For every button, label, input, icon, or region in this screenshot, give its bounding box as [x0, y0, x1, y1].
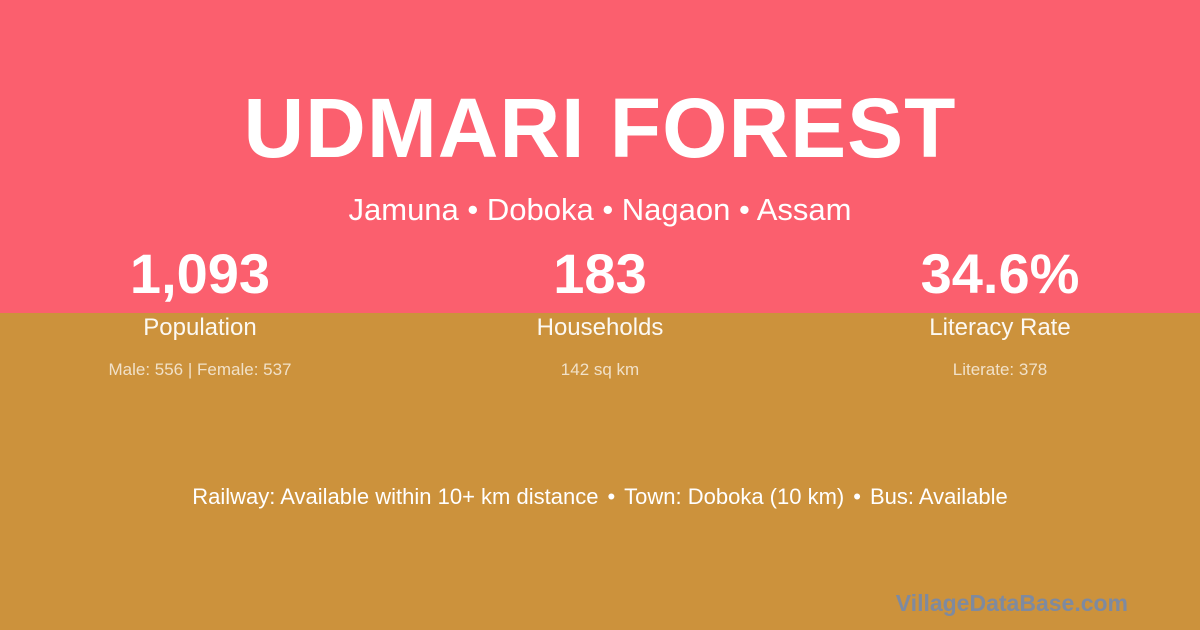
- stat-block-population: 1,093 Population Male: 556 | Female: 537: [0, 246, 400, 378]
- literacy-rate-value: 34.6%: [800, 246, 1200, 302]
- amenity-bus: Bus: Available: [870, 484, 1008, 509]
- population-breakdown: Male: 556 | Female: 537: [0, 340, 400, 378]
- area-value: 142 sq km: [400, 340, 800, 378]
- literacy-rate-label: Literacy Rate: [800, 302, 1200, 340]
- amenity-railway: Railway: Available within 10+ km distanc…: [192, 484, 598, 509]
- households-label: Households: [400, 302, 800, 340]
- amenity-separator-icon: •: [844, 484, 870, 509]
- brand-watermark: VillageDataBase.com: [896, 592, 1128, 615]
- population-label: Population: [0, 302, 400, 340]
- amenities-line: Railway: Available within 10+ km distanc…: [0, 486, 1200, 508]
- households-value: 183: [400, 246, 800, 302]
- stats-row: 1,093 Population Male: 556 | Female: 537…: [0, 246, 1200, 378]
- village-info-card: UDMARI FOREST Jamuna • Doboka • Nagaon •…: [0, 0, 1200, 630]
- location-breadcrumb: Jamuna • Doboka • Nagaon • Assam: [0, 170, 1200, 225]
- population-value: 1,093: [0, 246, 400, 302]
- literate-count: Literate: 378: [800, 340, 1200, 378]
- amenity-town: Town: Doboka (10 km): [624, 484, 844, 509]
- stat-block-literacy: 34.6% Literacy Rate Literate: 378: [800, 246, 1200, 378]
- page-title: UDMARI FOREST: [0, 0, 1200, 170]
- header: UDMARI FOREST Jamuna • Doboka • Nagaon •…: [0, 0, 1200, 225]
- stat-block-households: 183 Households 142 sq km: [400, 246, 800, 378]
- amenity-separator-icon: •: [598, 484, 624, 509]
